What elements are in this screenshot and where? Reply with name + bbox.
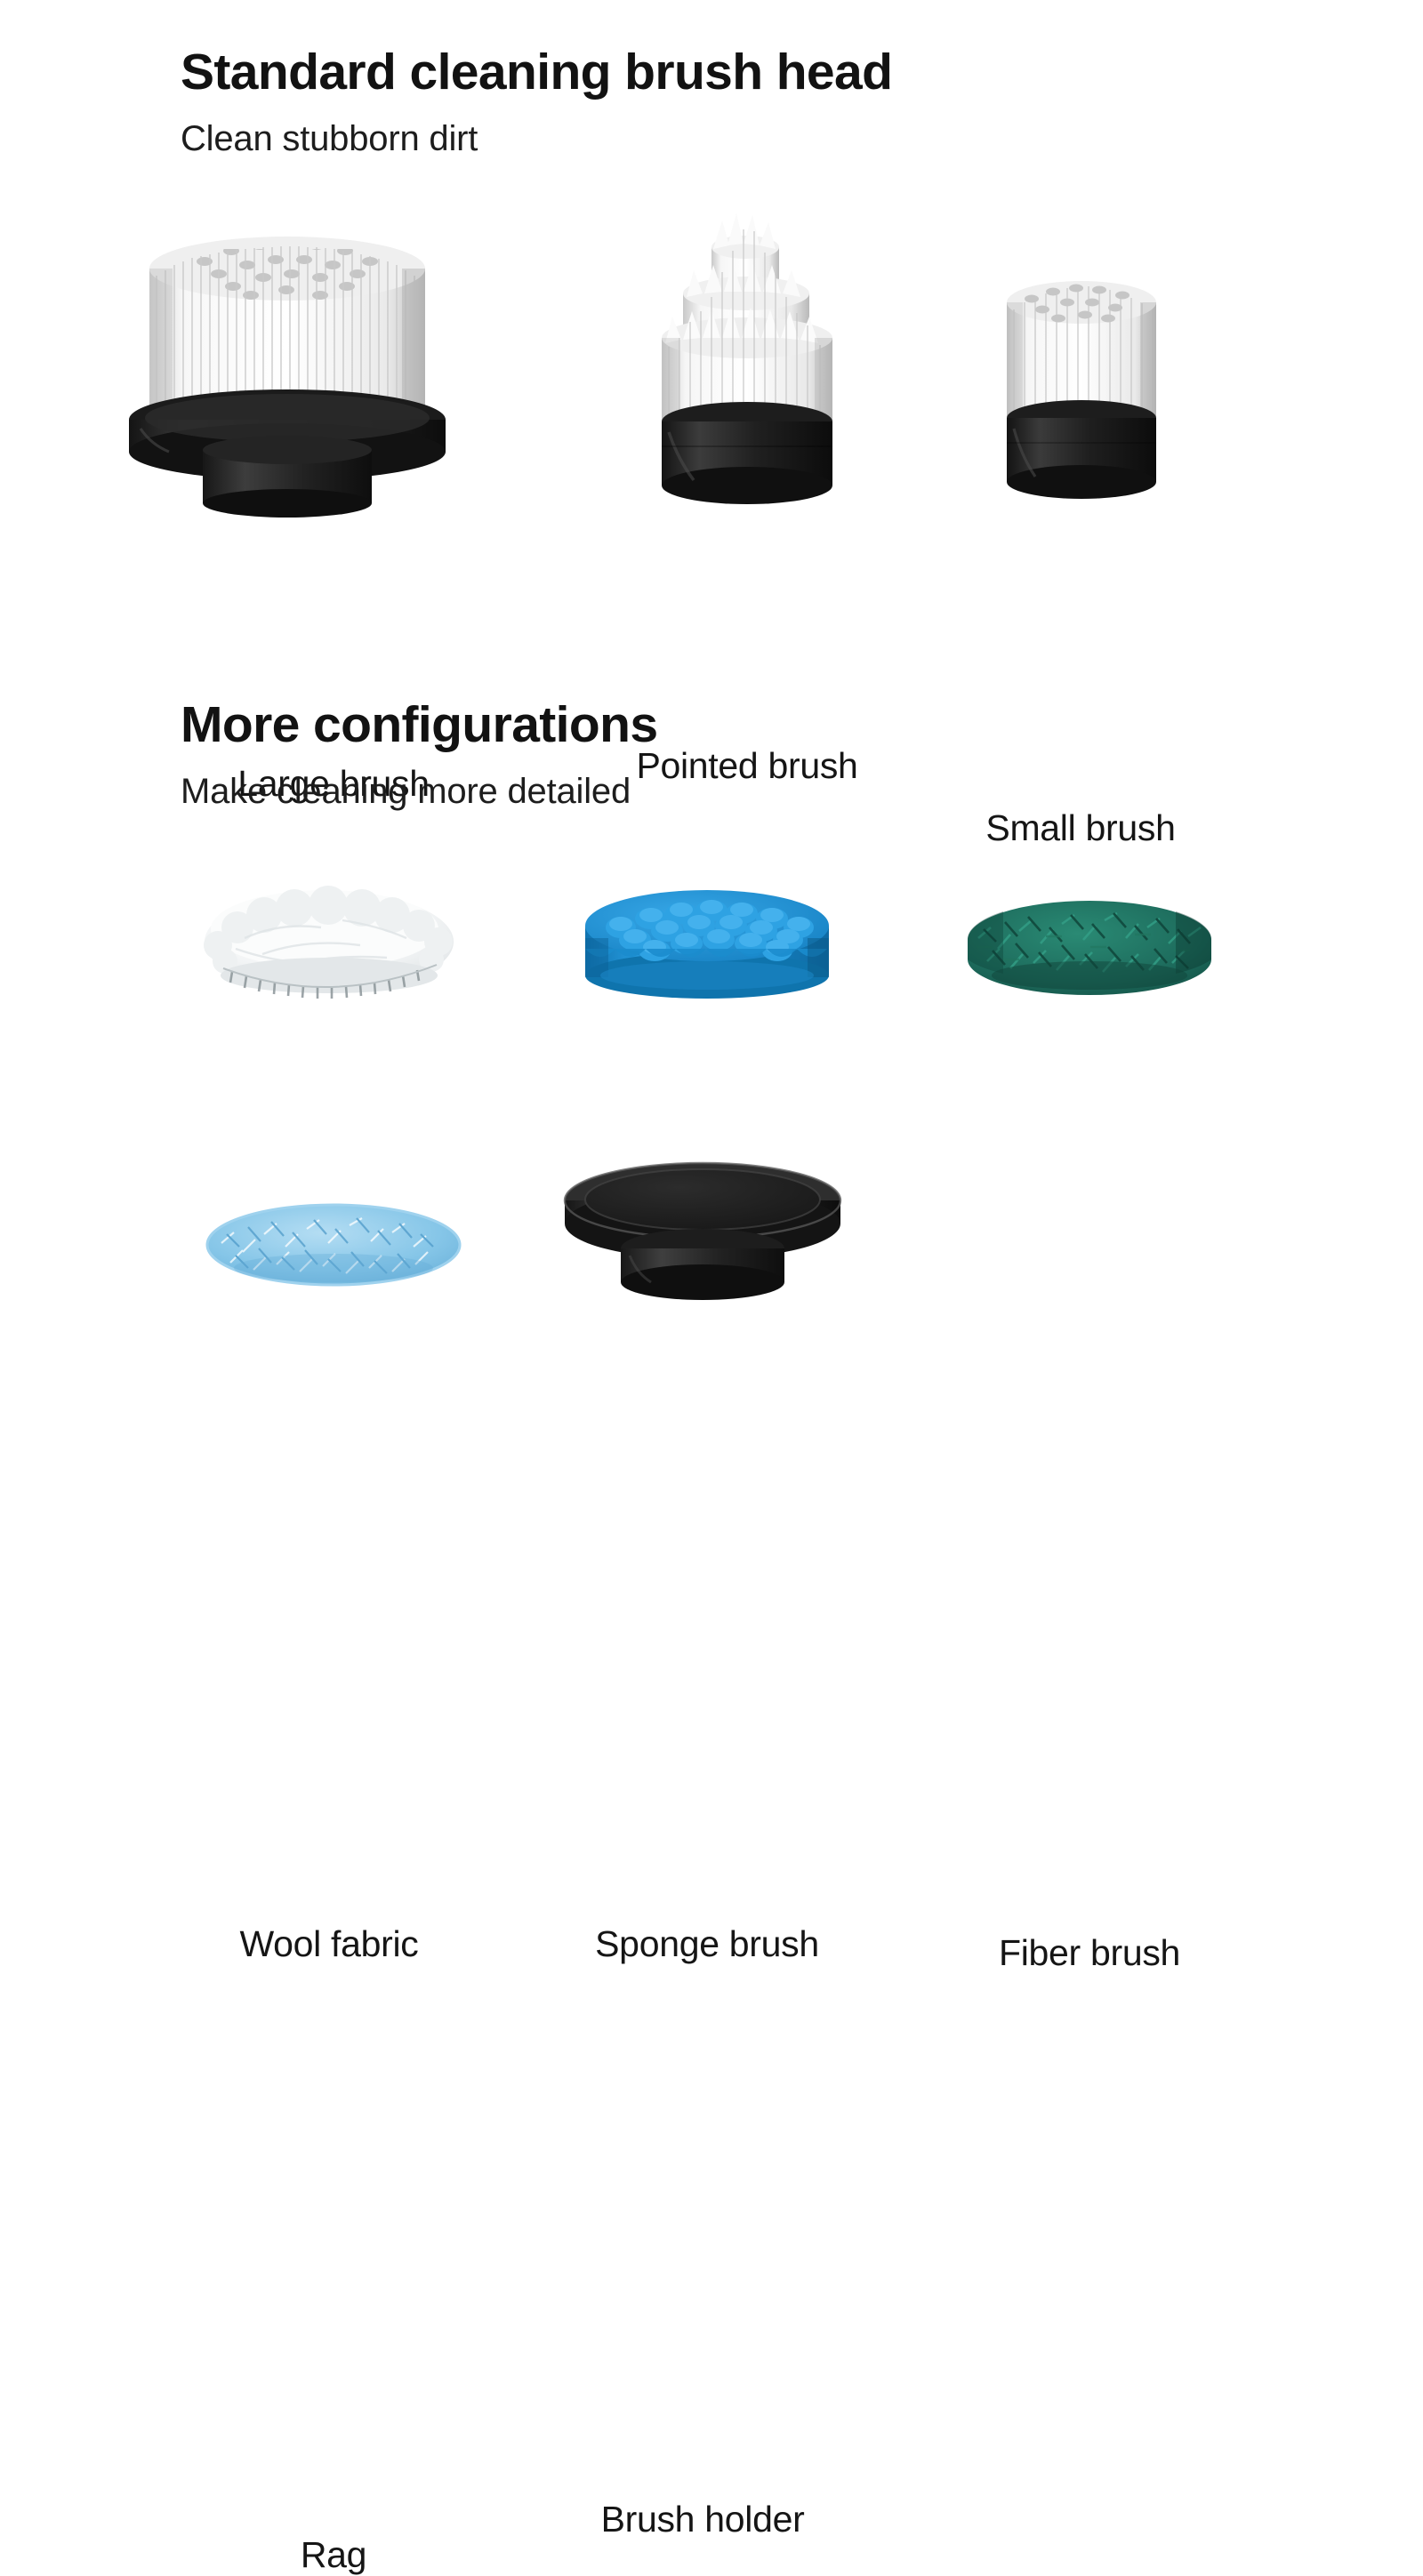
large-brush-image (98, 222, 569, 516)
wool-fabric-pad (204, 886, 454, 999)
brush-holder-body (565, 1163, 840, 1300)
section-title-more-configurations: More configurations (181, 699, 657, 752)
wool-fabric-image (182, 876, 476, 1005)
product-large-brush[interactable]: Large brush (98, 222, 569, 516)
rag-image (191, 1192, 476, 1298)
product-pointed-brush[interactable]: Pointed brush (587, 205, 907, 516)
product-small-brush[interactable]: Small brush (943, 267, 1218, 516)
product-rag[interactable]: Rag (191, 1192, 476, 1298)
section-subtitle-more-configurations: Make cleaning more detailed (181, 772, 657, 811)
sponge-brush-pad (585, 890, 829, 999)
caption-small-brush: Small brush (849, 807, 1312, 849)
section-header-standard: Standard cleaning brush head Clean stubb… (181, 46, 892, 158)
sponge-brush-image (569, 876, 845, 1005)
product-infographic: Standard cleaning brush head Clean stubb… (0, 0, 1423, 1423)
large-brush-stem (203, 436, 372, 518)
pointed-brush-base (662, 402, 832, 504)
fiber-brush-image (952, 885, 1227, 1005)
rag-pad (207, 1205, 460, 1285)
section-title-standard: Standard cleaning brush head (181, 46, 892, 100)
small-brush-bristles (1007, 281, 1156, 419)
brush-holder-image (551, 1156, 854, 1303)
small-brush-base (1007, 400, 1156, 499)
caption-brush-holder: Brush holder (471, 2499, 934, 2540)
product-wool-fabric[interactable]: Wool fabric (182, 876, 476, 1005)
caption-fiber-brush: Fiber brush (858, 1932, 1321, 1974)
caption-rag: Rag (102, 2534, 565, 2576)
product-brush-holder[interactable]: Brush holder (551, 1156, 854, 1303)
product-fiber-brush[interactable]: Fiber brush (952, 885, 1227, 1005)
section-subtitle-standard: Clean stubborn dirt (181, 119, 892, 158)
section-header-more-configurations: More configurations Make cleaning more d… (181, 699, 657, 811)
pointed-brush-bristles (662, 213, 832, 422)
pointed-brush-image (587, 205, 907, 516)
small-brush-image (943, 267, 1218, 516)
fiber-brush-pad (968, 901, 1211, 995)
product-sponge-brush[interactable]: Sponge brush (569, 876, 845, 1005)
